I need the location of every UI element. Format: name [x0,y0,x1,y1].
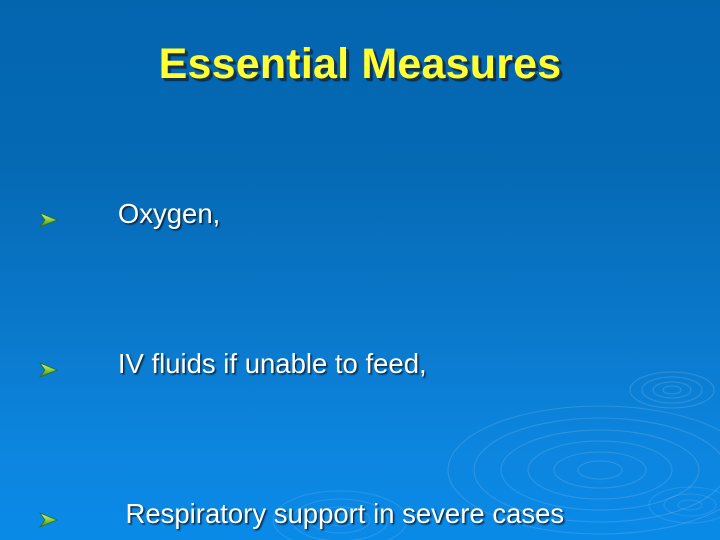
bullet-list: Oxygen, IV fluids if unable to feed, [38,126,672,540]
list-item: Oxygen, [38,126,672,266]
page-title: Essential Measures [0,40,720,89]
list-item-label: Oxygen, [118,198,220,229]
list-item-label: IV fluids if unable to feed, [118,348,427,379]
green-arrowhead-bullet-icon [38,133,60,153]
list-item: IV fluids if unable to feed, [38,276,672,416]
list-item-label: Respiratory support in severe cases [118,498,564,529]
green-arrowhead-bullet-icon [38,433,60,453]
list-item: Respiratory support in severe cases [38,426,672,540]
slide-canvas: Essential Measures Oxygen, [0,0,720,540]
green-arrowhead-bullet-icon [38,283,60,303]
